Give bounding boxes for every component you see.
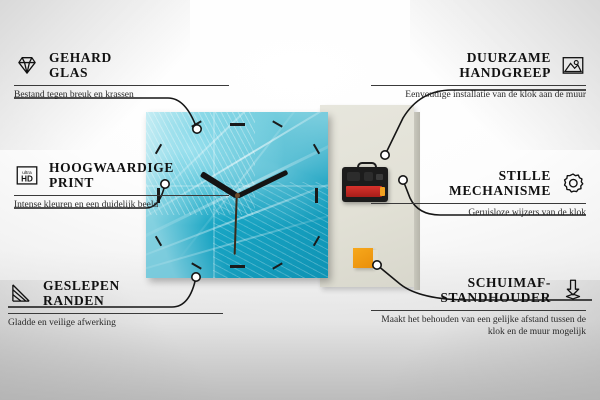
feature-header: ultra HD HOOGWAARDIGE PRINT bbox=[14, 160, 229, 190]
feature-description: Geruisloze wijzers van de klok bbox=[371, 208, 586, 220]
clock-tick bbox=[154, 235, 161, 246]
clock-texture-fan-bottom bbox=[213, 182, 328, 278]
feature-description: Bestand tegen breuk en krassen bbox=[14, 90, 229, 102]
feature-title: DUURZAME HANDGREEP bbox=[459, 50, 551, 80]
feature-divider bbox=[371, 203, 586, 204]
infographic-canvas: GEHARD GLAS Bestand tegen breuk en krass… bbox=[0, 0, 600, 400]
feature-description: Eenvoudige installatie van de klok aan d… bbox=[371, 90, 586, 102]
feature-description: Gladde en veilige afwerking bbox=[8, 318, 223, 330]
gear-icon bbox=[560, 170, 586, 196]
feature-geslepen-randen: GESLEPEN RANDEN Gladde en veilige afwerk… bbox=[8, 278, 223, 330]
svg-text:HD: HD bbox=[21, 175, 33, 184]
feature-gehard-glas: GEHARD GLAS Bestand tegen breuk en krass… bbox=[14, 50, 229, 102]
feature-title: SCHUIMAF- STANDHOUDER bbox=[440, 275, 551, 305]
feature-divider bbox=[14, 85, 229, 86]
feature-header: GEHARD GLAS bbox=[14, 50, 229, 80]
feature-title: HOOGWAARDIGE PRINT bbox=[49, 160, 174, 190]
feature-header: SCHUIMAF- STANDHOUDER bbox=[371, 275, 586, 305]
feature-divider bbox=[14, 195, 229, 196]
ultra-hd-icon: ultra HD bbox=[14, 162, 40, 188]
foam-spacer bbox=[353, 248, 373, 268]
diagonal-lines-icon bbox=[8, 280, 34, 306]
feature-description: Intense kleuren en een duidelijk beeld bbox=[14, 200, 229, 212]
foam-spacer-side bbox=[373, 250, 378, 270]
feature-stille-mechanisme: STILLE MECHANISME Geruisloze wijzers van… bbox=[371, 168, 586, 220]
feature-divider bbox=[371, 85, 586, 86]
feature-hoogwaardige-print: ultra HD HOOGWAARDIGE PRINT Intense kleu… bbox=[14, 160, 229, 212]
diamond-icon bbox=[14, 52, 40, 78]
mechanism-detail bbox=[347, 172, 360, 181]
clock-center-hub bbox=[235, 193, 240, 198]
feature-header: DUURZAME HANDGREEP bbox=[371, 50, 586, 80]
clock-tick bbox=[230, 265, 245, 268]
feature-title: GESLEPEN RANDEN bbox=[43, 278, 120, 308]
clock-tick bbox=[230, 123, 245, 126]
clock-tick bbox=[191, 262, 202, 269]
feature-schuimafstandhouder: SCHUIMAF- STANDHOUDER Maakt het behouden… bbox=[371, 275, 586, 338]
feature-title: GEHARD GLAS bbox=[49, 50, 112, 80]
down-arrow-stamp-icon bbox=[560, 277, 586, 303]
picture-frame-icon bbox=[560, 52, 586, 78]
clock-tick bbox=[315, 188, 318, 203]
feature-divider bbox=[371, 310, 586, 311]
feature-header: GESLEPEN RANDEN bbox=[8, 278, 223, 308]
feature-divider bbox=[8, 313, 223, 314]
feature-header: STILLE MECHANISME bbox=[371, 168, 586, 198]
feature-duurzame-handgreep: DUURZAME HANDGREEP Eenvoudige installati… bbox=[371, 50, 586, 102]
feature-title: STILLE MECHANISME bbox=[449, 168, 551, 198]
feature-description: Maakt het behouden van een gelijke afsta… bbox=[371, 315, 586, 338]
